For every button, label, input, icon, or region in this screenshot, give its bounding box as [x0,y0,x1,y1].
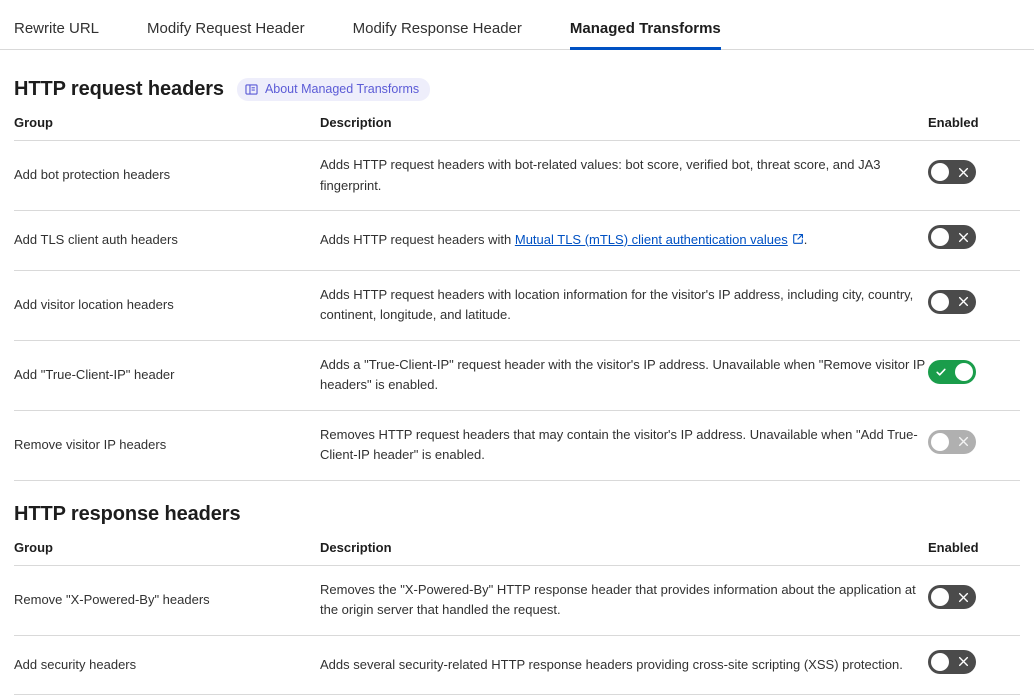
column-header-description: Description [320,115,928,141]
request-headers-table: Group Description Enabled Add bot protec… [14,115,1020,481]
http-request-headers-section: HTTP request headers About Managed Trans… [0,50,1034,481]
row-description: Adds HTTP request headers with Mutual TL… [320,211,928,271]
toggle-knob [931,163,949,181]
table-row: Add TLS client auth headers Adds HTTP re… [14,211,1020,271]
row-description-text: Adds HTTP request headers with [320,232,515,247]
row-group-label: Add TLS client auth headers [14,211,320,271]
row-description-text: Adds a "True-Client-IP" request header w… [320,357,925,393]
check-icon [935,360,947,384]
page-title-request: HTTP request headers [14,78,224,101]
row-enabled-cell [928,565,1020,635]
table-row: Add security headers Adds several securi… [14,635,1020,695]
close-icon [958,160,969,184]
tab-managed-transforms[interactable]: Managed Transforms [570,21,721,50]
column-header-enabled: Enabled [928,540,1020,566]
row-description: Removes the "X-Powered-By" HTTP response… [320,565,928,635]
row-group-label: Remove "X-Powered-By" headers [14,565,320,635]
row-group-label: Add visitor location headers [14,270,320,340]
mtls-documentation-link[interactable]: Mutual TLS (mTLS) client authentication … [515,232,788,247]
row-description-text: Adds HTTP request headers with location … [320,287,913,323]
toggle-knob [931,293,949,311]
row-description-text: Removes HTTP request headers that may co… [320,427,918,463]
row-group-label: Add "True-Client-IP" header [14,340,320,410]
about-managed-transforms-badge[interactable]: About Managed Transforms [237,78,430,100]
tab-modify-request-header[interactable]: Modify Request Header [147,21,305,50]
row-description: Adds HTTP request headers with location … [320,270,928,340]
table-row: Add bot protection headers Adds HTTP req… [14,141,1020,211]
row-description: Adds a "True-Client-IP" request header w… [320,340,928,410]
page-title-response: HTTP response headers [14,503,241,526]
row-enabled-cell [928,635,1020,695]
row-enabled-cell [928,211,1020,271]
toggle-knob [931,653,949,671]
row-enabled-cell [928,270,1020,340]
enable-toggle[interactable] [928,360,976,384]
enable-toggle[interactable] [928,585,976,609]
row-description: Removes HTTP request headers that may co… [320,410,928,480]
toggle-knob [955,363,973,381]
row-description-text: Removes the "X-Powered-By" HTTP response… [320,582,916,618]
enable-toggle[interactable] [928,225,976,249]
table-header-row: Group Description Enabled [14,115,1020,141]
response-section-header: HTTP response headers [14,503,1020,526]
tab-rewrite-url[interactable]: Rewrite URL [14,21,99,50]
row-description-text: Adds HTTP request headers with bot-relat… [320,157,881,193]
toggle-knob [931,433,949,451]
column-header-group: Group [14,540,320,566]
column-header-description: Description [320,540,928,566]
enable-toggle[interactable] [928,650,976,674]
book-icon [245,83,258,96]
request-headers-body: Add bot protection headers Adds HTTP req… [14,141,1020,481]
row-group-label: Add security headers [14,635,320,695]
row-enabled-cell [928,141,1020,211]
response-headers-body: Remove "X-Powered-By" headers Removes th… [14,565,1020,695]
close-icon [958,225,969,249]
row-description-text: Adds several security-related HTTP respo… [320,657,903,672]
table-row: Remove visitor IP headers Removes HTTP r… [14,410,1020,480]
about-badge-label: About Managed Transforms [265,81,419,97]
table-row: Add visitor location headers Adds HTTP r… [14,270,1020,340]
close-icon [958,585,969,609]
section-spacer [0,481,1034,503]
tab-modify-response-header[interactable]: Modify Response Header [353,21,522,50]
request-section-header: HTTP request headers About Managed Trans… [14,78,1020,101]
row-group-label: Remove visitor IP headers [14,410,320,480]
row-enabled-cell [928,340,1020,410]
row-enabled-cell [928,410,1020,480]
close-icon [958,650,969,674]
column-header-enabled: Enabled [928,115,1020,141]
http-response-headers-section: HTTP response headers Group Description … [0,503,1034,695]
table-header-row: Group Description Enabled [14,540,1020,566]
close-icon [958,290,969,314]
table-row: Add "True-Client-IP" header Adds a "True… [14,340,1020,410]
row-description-suffix: . [804,232,808,247]
table-row: Remove "X-Powered-By" headers Removes th… [14,565,1020,635]
tab-bar: Rewrite URL Modify Request Header Modify… [0,0,1034,50]
external-link-icon[interactable] [792,231,804,252]
toggle-knob [931,228,949,246]
column-header-group: Group [14,115,320,141]
close-icon [958,430,969,454]
row-description: Adds HTTP request headers with bot-relat… [320,141,928,211]
enable-toggle-disabled [928,430,976,454]
enable-toggle[interactable] [928,290,976,314]
toggle-knob [931,588,949,606]
response-headers-table: Group Description Enabled Remove "X-Powe… [14,540,1020,695]
enable-toggle[interactable] [928,160,976,184]
row-group-label: Add bot protection headers [14,141,320,211]
row-description: Adds several security-related HTTP respo… [320,635,928,695]
